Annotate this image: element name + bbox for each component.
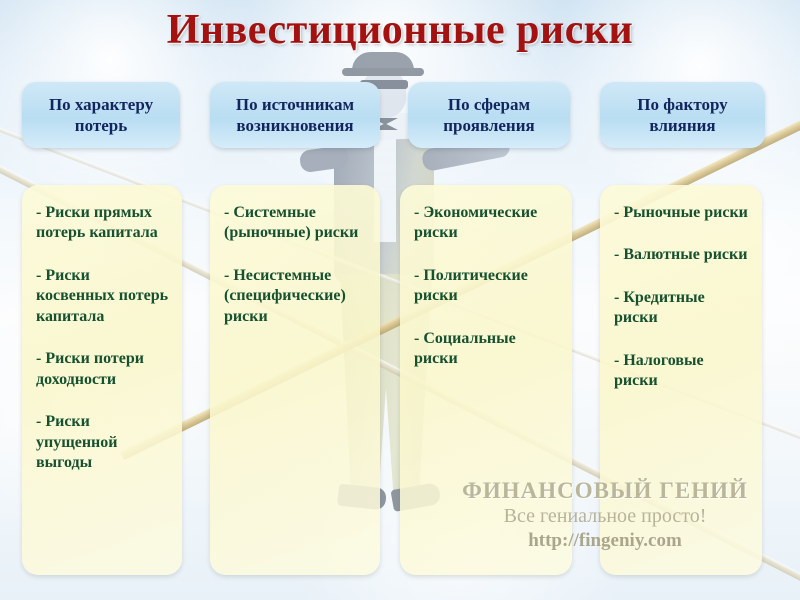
list-item: - Риски прямых потерь капитала [36,203,170,244]
hat-icon [352,52,414,74]
column-card-2: - Системные (рыночные) риски - Несистемн… [210,185,380,575]
walker-left-arm [299,145,350,173]
list-item: - Политические риски [414,266,560,307]
list-item: - Риски косвенных потерь капитала [36,266,170,327]
column-card-4: - Рыночные риски - Валютные риски - Кред… [600,185,762,575]
column-header-4: По фактору влияния [600,82,765,148]
list-item: - Риски упущенной выгоды [36,412,170,473]
list-item: - Налоговые риски [614,351,750,392]
column-header-3: По сферам проявления [408,82,570,148]
list-item: - Валютные риски [614,245,750,265]
column-header-2: По источникам возникновения [210,82,380,148]
list-item: - Кредитные риски [614,288,750,329]
list-item: - Несистемные (специфические) риски [224,266,368,327]
list-item: - Риски потери доходности [36,349,170,390]
list-item: - Социальные риски [414,329,560,370]
slide-canvas: Инвестиционные риски По характеру потерь… [0,0,800,600]
page-title: Инвестиционные риски [0,6,800,54]
column-card-1: - Риски прямых потерь капитала - Риски к… [22,185,182,575]
column-card-3: - Экономические риски - Политические рис… [400,185,572,575]
list-item: - Рыночные риски [614,203,750,223]
list-item: - Системные (рыночные) риски [224,203,368,244]
list-item: - Экономические риски [414,203,560,244]
column-header-1: По характеру потерь [22,82,180,148]
